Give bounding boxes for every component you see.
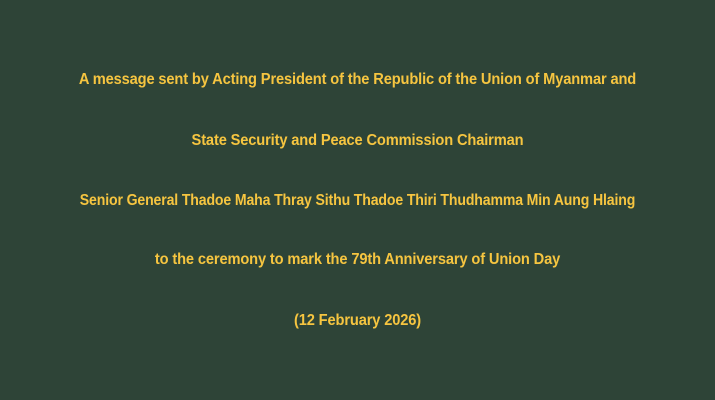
message-line-name: Senior General Thadoe Maha Thray Sithu T… — [43, 193, 672, 208]
message-line-sender: A message sent by Acting President of th… — [35, 72, 681, 88]
message-line-date: (12 February 2026) — [35, 313, 681, 329]
message-line-occasion: to the ceremony to mark the 79th Anniver… — [35, 252, 681, 268]
message-line-title: State Security and Peace Commission Chai… — [35, 133, 681, 149]
message-text-block: A message sent by Acting President of th… — [14, 72, 701, 329]
announcement-slide: A message sent by Acting President of th… — [0, 0, 715, 400]
